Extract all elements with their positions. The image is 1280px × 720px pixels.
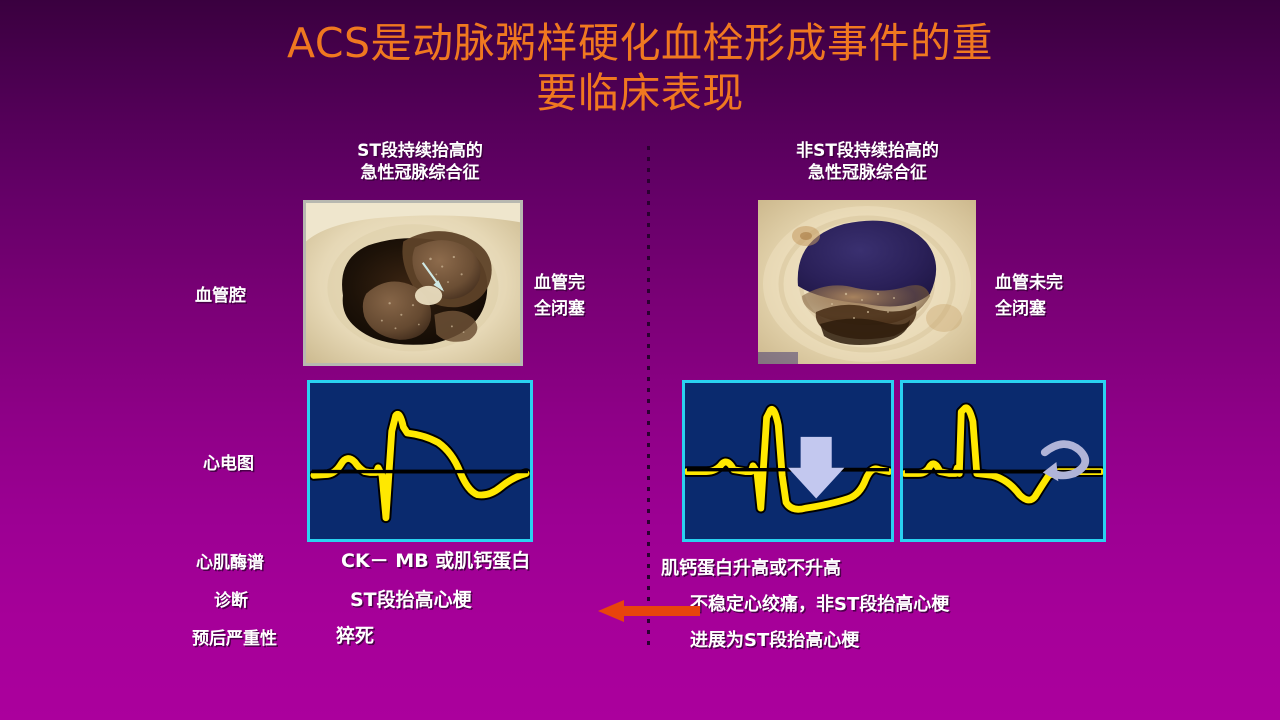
- value-right-prognosis: 进展为ST段抬高心梗: [690, 626, 859, 652]
- value-right-diagnosis: 不稳定心绞痛，非ST段抬高心梗: [690, 590, 949, 616]
- row-label-lumen: 血管腔: [195, 281, 246, 306]
- column-header-stemi: ST段持续抬高的 急性冠脉综合征: [300, 140, 540, 184]
- progression-arrow: [598, 600, 700, 622]
- down-arrow-icon: [788, 437, 844, 499]
- ecg-panel-st-elevation: [307, 380, 533, 542]
- value-left-diagnosis: ST段抬高心梗: [350, 585, 472, 612]
- note-complete-occlusion: 血管完 全闭塞: [534, 270, 585, 322]
- row-label-enzyme: 心肌酶谱: [196, 548, 264, 573]
- page-title: ACS是动脉粥样硬化血栓形成事件的重 要临床表现: [180, 18, 1100, 118]
- value-left-enzyme: CK－ MB 或肌钙蛋白: [341, 546, 530, 573]
- value-right-enzyme: 肌钙蛋白升高或不升高: [661, 554, 841, 580]
- specimen-image-partial: [758, 200, 976, 364]
- value-left-prognosis: 猝死: [336, 621, 374, 648]
- column-header-nstemi: 非ST段持续抬高的 急性冠脉综合征: [745, 140, 990, 184]
- note-partial-occlusion: 血管未完 全闭塞: [995, 270, 1063, 322]
- ecg-panel-t-inversion: [900, 380, 1106, 542]
- ecg-panel-st-depression: [682, 380, 894, 542]
- row-label-diagnosis: 诊断: [214, 586, 248, 611]
- dotted-divider: [647, 146, 650, 646]
- row-label-prognosis: 预后严重性: [192, 624, 277, 649]
- row-label-ecg: 心电图: [203, 449, 254, 474]
- slide-canvas: ACS是动脉粥样硬化血栓形成事件的重 要临床表现 ST段持续抬高的 急性冠脉综合…: [0, 0, 1280, 720]
- specimen-image-occluded: [303, 200, 523, 366]
